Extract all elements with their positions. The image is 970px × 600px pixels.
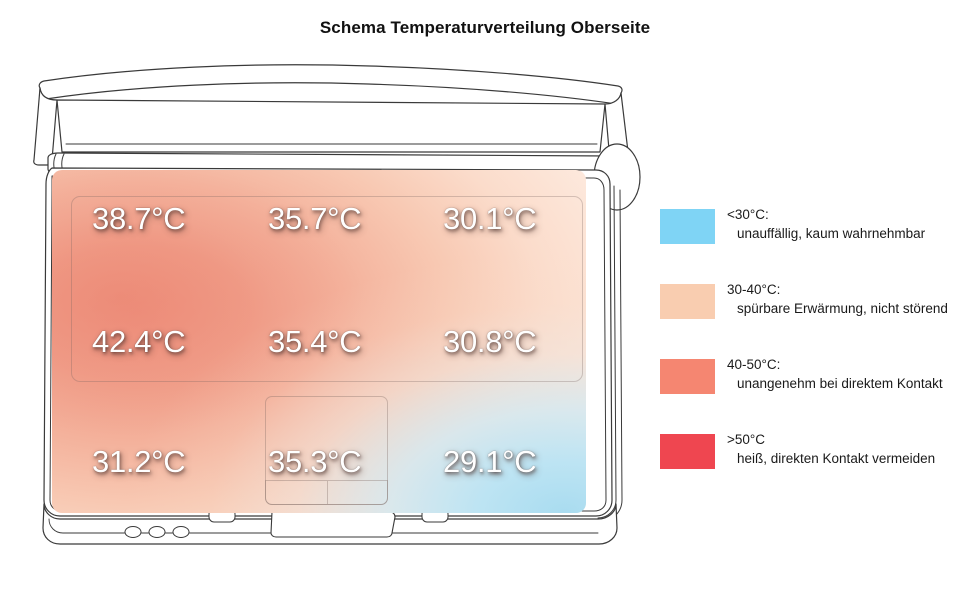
temp-reading-r0c1: 35.7°C (268, 201, 361, 237)
legend-desc-above-50: heiß, direkten Kontakt vermeiden (727, 449, 935, 468)
legend-swatch-above-50 (660, 434, 715, 469)
legend-range-30-40: 30-40°C: (727, 280, 948, 299)
legend-range-40-50: 40-50°C: (727, 355, 943, 374)
legend-text-30-40: 30-40°C: spürbare Erwärmung, nicht störe… (727, 280, 948, 318)
front-port-3 (173, 527, 189, 538)
front-port-1 (125, 527, 141, 538)
legend-range-above-50: >50°C (727, 430, 935, 449)
legend-text-below-30: <30°C: unauffällig, kaum wahrnehmbar (727, 205, 925, 243)
temp-reading-r2c2: 29.1°C (443, 444, 536, 480)
legend-item-below-30: <30°C: unauffällig, kaum wahrnehmbar (660, 205, 960, 249)
temp-reading-r2c0: 31.2°C (92, 444, 185, 480)
legend-text-40-50: 40-50°C: unangenehm bei direktem Kontakt (727, 355, 943, 393)
legend-swatch-below-30 (660, 209, 715, 244)
temp-reading-r2c1: 35.3°C (268, 444, 361, 480)
legend-desc-30-40: spürbare Erwärmung, nicht störend (727, 299, 948, 318)
temp-reading-r1c1: 35.4°C (268, 324, 361, 360)
legend-range-below-30: <30°C: (727, 205, 925, 224)
temp-reading-r0c2: 30.1°C (443, 201, 536, 237)
temp-reading-r1c2: 30.8°C (443, 324, 536, 360)
temp-reading-r0c0: 38.7°C (92, 201, 185, 237)
illustration-stage: Schema Temperaturverteilung Oberseite (0, 0, 970, 600)
temp-reading-r1c0: 42.4°C (92, 324, 185, 360)
front-release-bar (271, 512, 395, 537)
legend-swatch-40-50 (660, 359, 715, 394)
legend-desc-40-50: unangenehm bei direktem Kontakt (727, 374, 943, 393)
legend-item-40-50: 40-50°C: unangenehm bei direktem Kontakt (660, 355, 960, 399)
legend-item-above-50: >50°C heiß, direkten Kontakt vermeiden (660, 430, 960, 474)
temperature-legend: <30°C: unauffällig, kaum wahrnehmbar 30-… (660, 205, 960, 505)
screen-lid (39, 65, 622, 104)
legend-desc-below-30: unauffällig, kaum wahrnehmbar (727, 224, 925, 243)
legend-swatch-30-40 (660, 284, 715, 319)
front-port-2 (149, 527, 165, 538)
legend-item-30-40: 30-40°C: spürbare Erwärmung, nicht störe… (660, 280, 960, 324)
legend-text-above-50: >50°C heiß, direkten Kontakt vermeiden (727, 430, 935, 468)
